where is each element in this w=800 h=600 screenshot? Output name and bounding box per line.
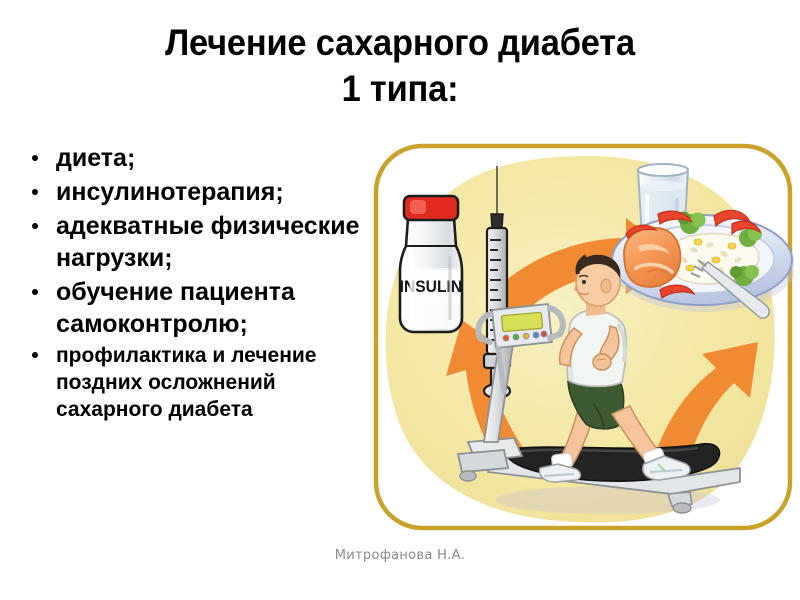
list-item-label: адекватные физические нагрузки; xyxy=(56,212,360,272)
vial-label-text: INSULIN xyxy=(400,277,463,296)
insulin-vial: INSULIN xyxy=(400,196,463,332)
list-item: адекватные физические нагрузки; xyxy=(18,210,370,274)
list-item: инсулинотерапия; xyxy=(18,176,370,208)
page-title: Лечение сахарного диабета 1 типа: xyxy=(28,20,772,112)
list-item: обучение пациента самоконтролю; xyxy=(18,276,370,340)
author-credit: Митрофанова Н.А. xyxy=(0,548,800,563)
list-item-label: диета; xyxy=(56,144,135,172)
treatment-bullet-list: диета; инсулинотерапия; адекватные физич… xyxy=(18,142,370,425)
list-item: профилактика и лечение поздних осложнени… xyxy=(18,342,370,423)
list-item: диета; xyxy=(18,142,370,174)
diabetes-cycle-illustration: INSULIN xyxy=(372,142,794,532)
list-item-label: инсулинотерапия; xyxy=(56,178,284,206)
list-item-label: обучение пациента самоконтролю; xyxy=(56,278,295,338)
list-item-label: профилактика и лечение поздних осложнени… xyxy=(56,344,316,421)
